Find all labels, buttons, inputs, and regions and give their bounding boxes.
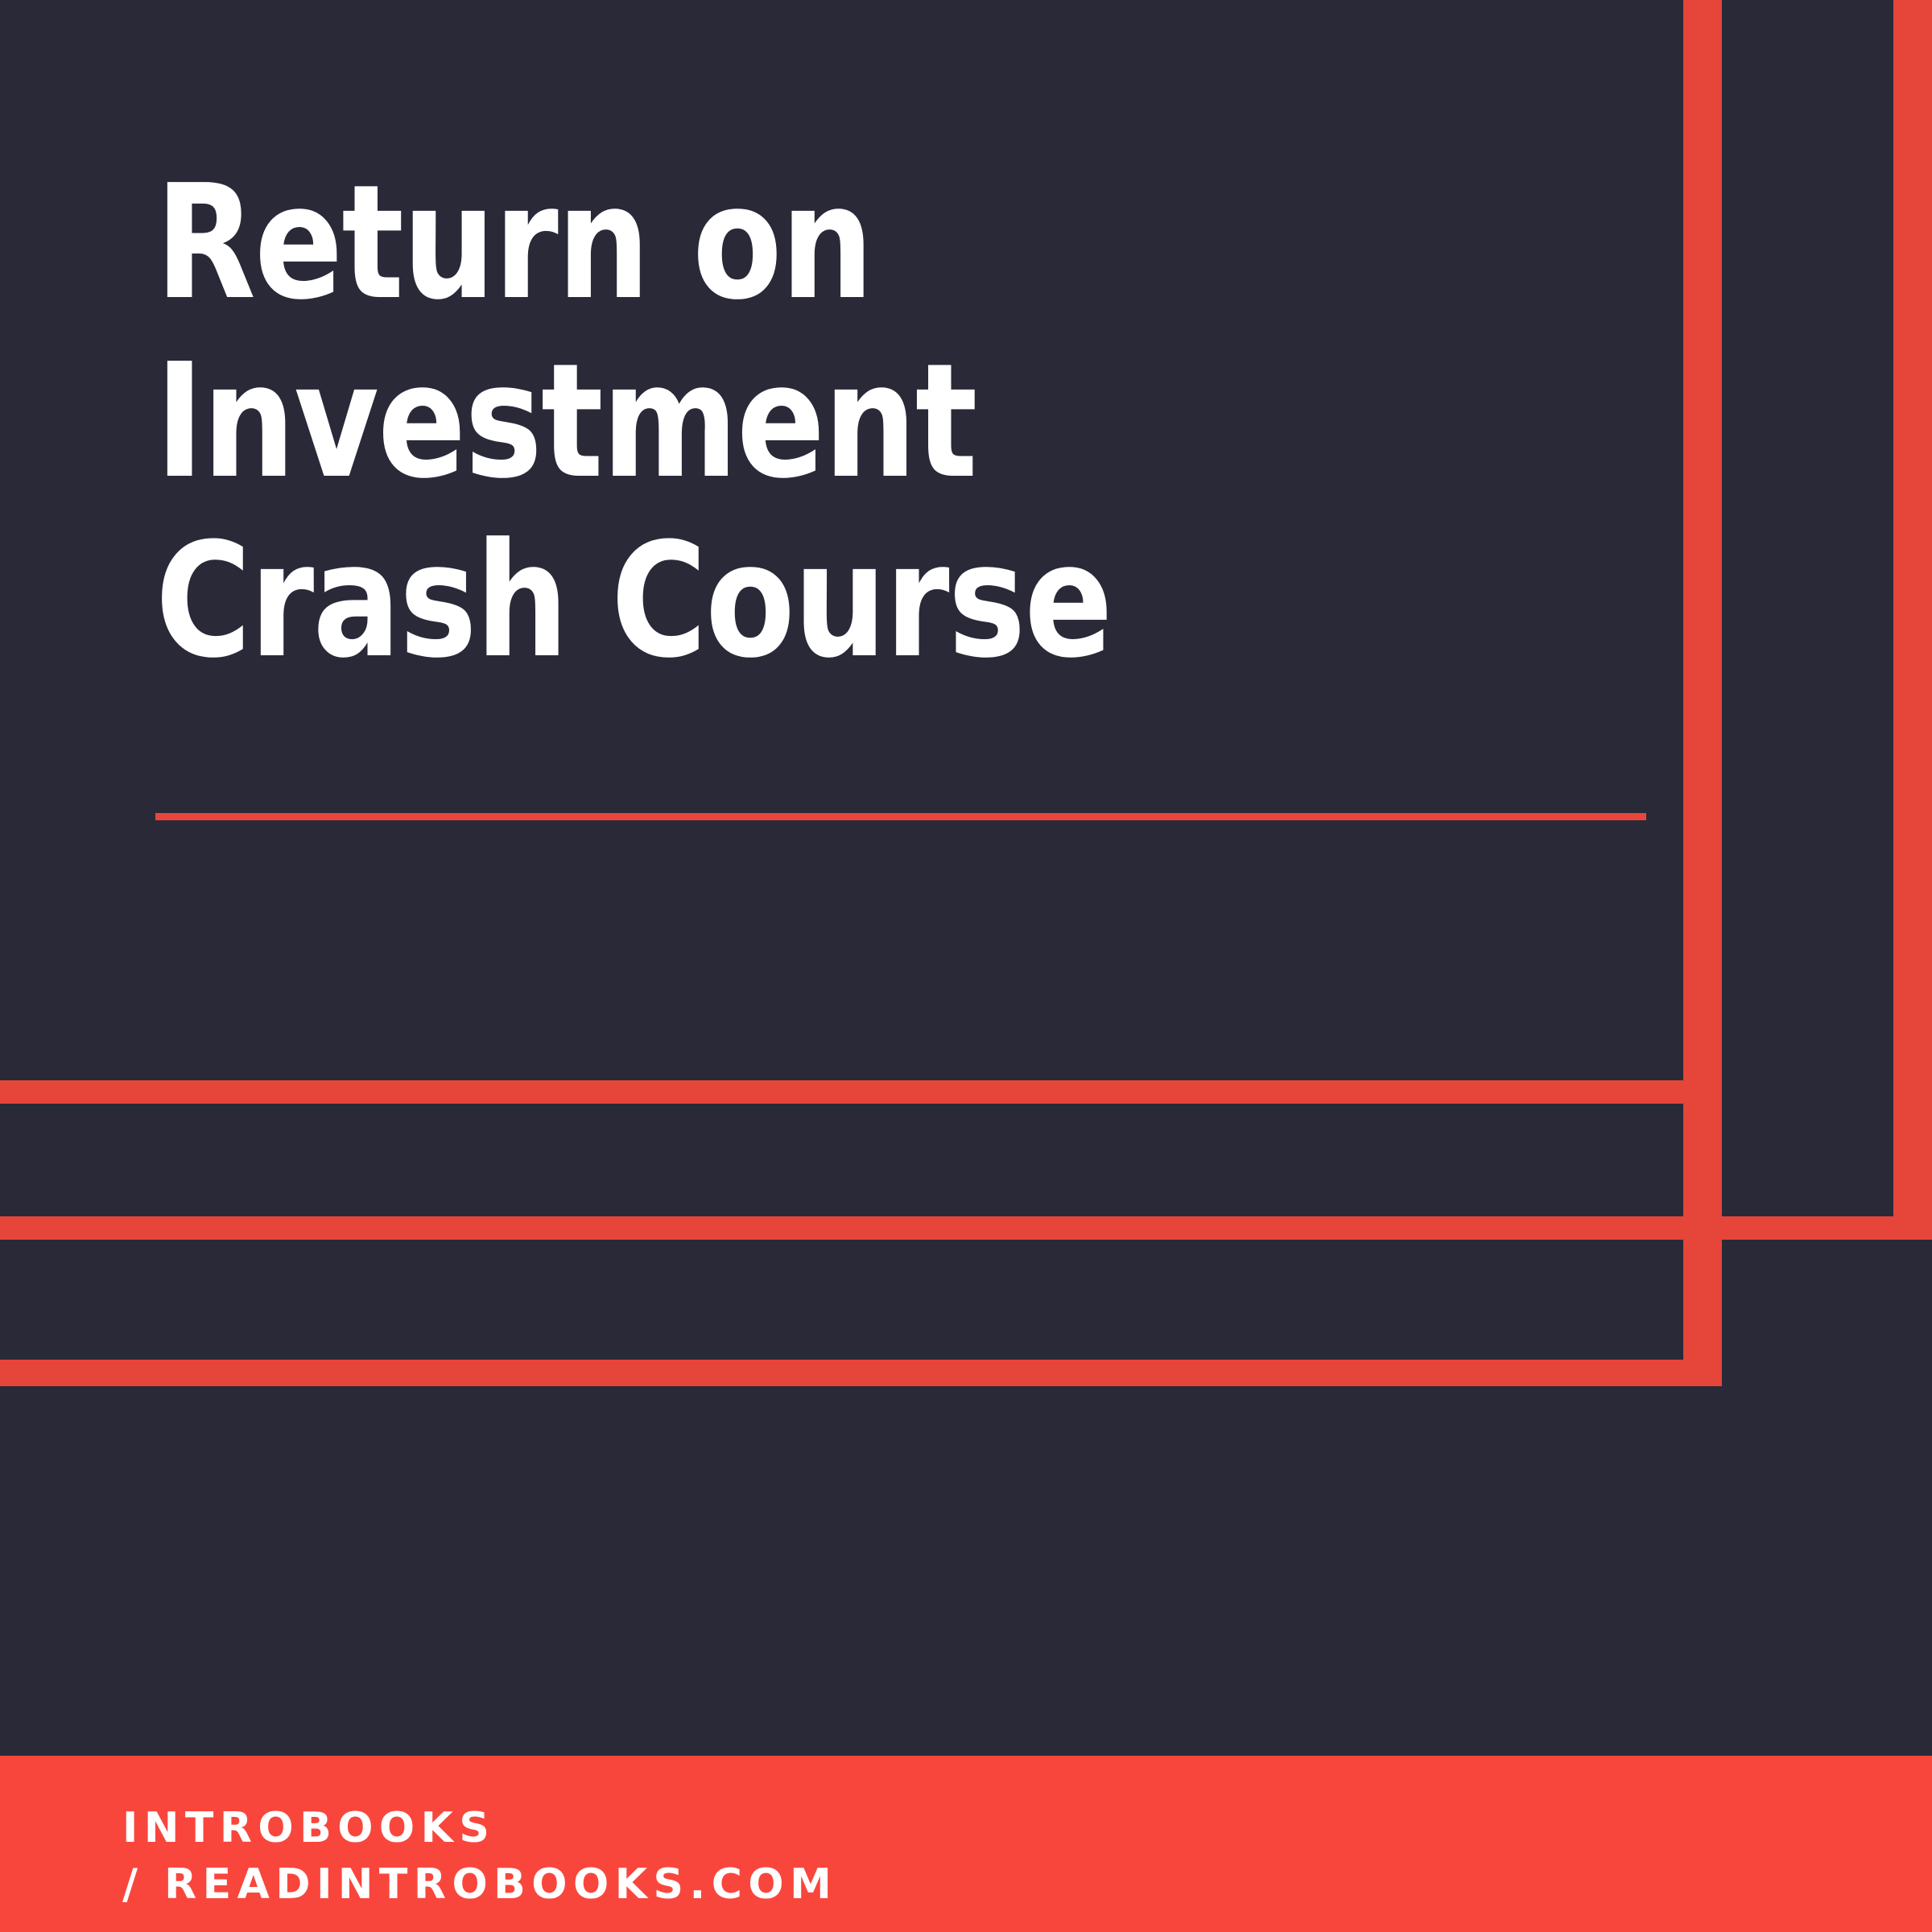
footer-bar: INTROBOOKS / READINTROBOOKS.COM [0,1756,1932,1932]
title-line-3: Crash Course [155,529,1540,674]
footer-branding: INTROBOOKS / READINTROBOOKS.COM [122,1801,837,1913]
title-line-1: Return on [155,171,1540,316]
publisher-website: / READINTROBOOKS.COM [122,1857,837,1913]
title-line-2: Investment [155,349,1540,494]
publisher-name: INTROBOOKS [122,1801,837,1857]
horizontal-accent-rule-bottom [0,1360,1722,1386]
title-underline-rule [155,813,1646,820]
horizontal-accent-rule-middle [0,1216,1932,1240]
vertical-accent-rule-outer [1893,0,1932,1240]
vertical-accent-rule-inner [1683,0,1722,1386]
cover-title: Return on Investment Crash Course [155,171,1661,674]
horizontal-accent-rule-top [0,1080,1722,1104]
book-cover: Return on Investment Crash Course INTROB… [0,0,1932,1932]
